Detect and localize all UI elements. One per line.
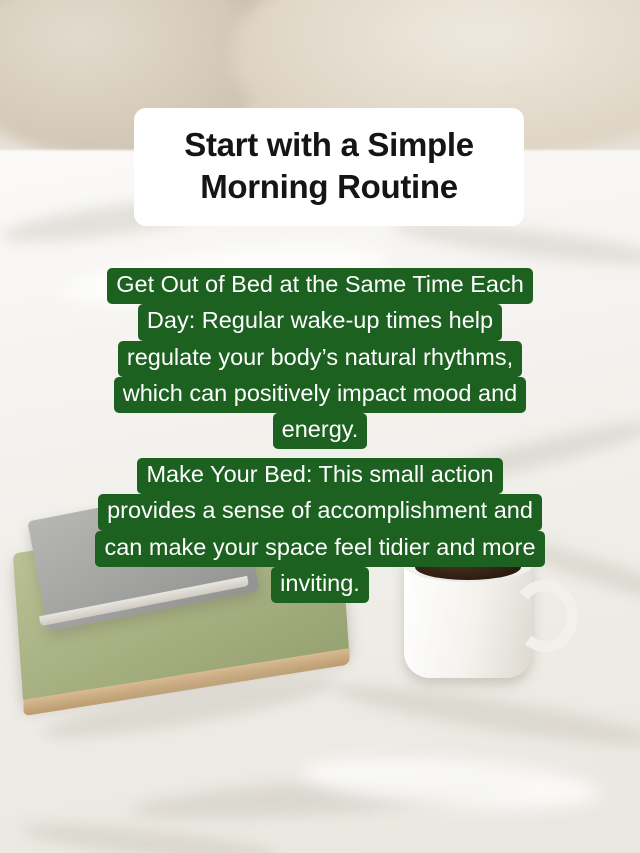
title-line-1: Start with a Simple xyxy=(152,124,506,166)
tip-1-line-3: regulate your body’s natural rhythms, xyxy=(118,341,522,377)
tip-card-2: Make Your Bed: This small action provide… xyxy=(60,458,580,603)
tip-2-line-3: can make your space feel tidier and more xyxy=(95,531,544,567)
tip-2-line-4: inviting. xyxy=(271,567,369,603)
tip-2-line-1: Make Your Bed: This small action xyxy=(137,458,502,494)
tip-card-1: Get Out of Bed at the Same Time Each Day… xyxy=(72,268,568,449)
text-overlay-layer: Start with a Simple Morning Routine Get … xyxy=(0,0,640,853)
tip-2-line-2: provides a sense of accomplishment and xyxy=(98,494,542,530)
tip-1-line-5: energy. xyxy=(273,413,368,449)
tip-1-line-2: Day: Regular wake-up times help xyxy=(138,304,502,340)
tip-1-line-1: Get Out of Bed at the Same Time Each xyxy=(107,268,533,304)
tip-1-line-4: which can positively impact mood and xyxy=(114,377,526,413)
title-line-2: Morning Routine xyxy=(152,166,506,208)
title-card: Start with a Simple Morning Routine xyxy=(134,108,524,226)
screenshot-root: Start with a Simple Morning Routine Get … xyxy=(0,0,640,853)
